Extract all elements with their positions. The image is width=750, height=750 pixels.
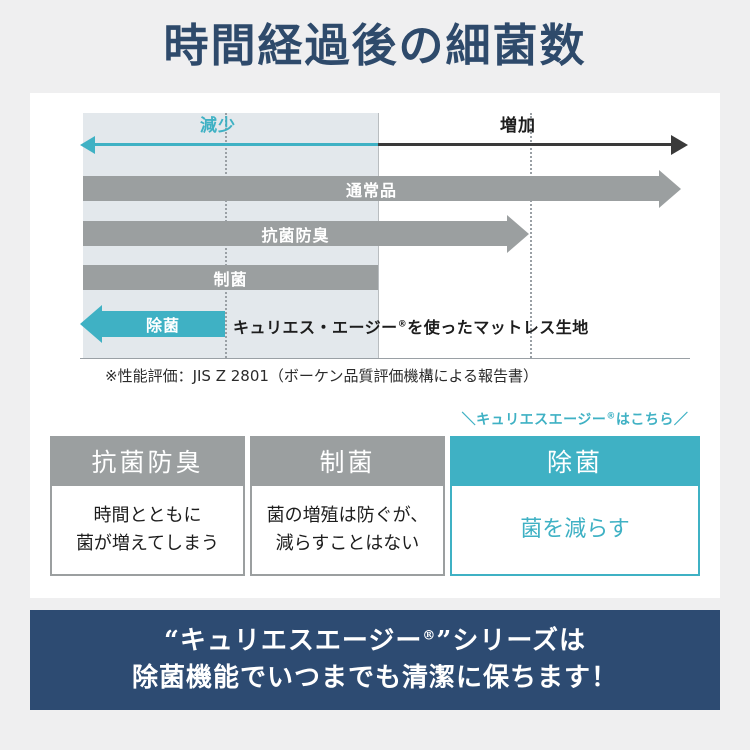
axis-label-increase: 増加 [500,111,536,136]
registered-mark: ® [606,411,616,421]
infographic-page: 時間経過後の細菌数 減少 増加 通常品 [0,0,750,750]
bar-body: 抗菌防臭 [83,221,508,246]
right-arrow-icon [671,135,688,155]
registered-mark: ® [422,628,436,643]
chart-panel: 減少 増加 通常品 抗菌防臭 制菌 [30,93,720,598]
banner-suffix: ”シリーズは [436,626,586,656]
axis-label-decrease: 減少 [200,111,236,136]
teal-arrowhead-icon [80,305,102,343]
card-body: 時間とともに 菌が増えてしまう [50,486,245,576]
teal-bar-body: 除菌 [101,311,225,337]
bar-label: 制菌 [213,266,247,290]
annotation-suffix: を使ったマットレス生地 [407,318,589,337]
page-title: 時間経過後の細菌数 [0,18,750,74]
mattress-fabric-annotation: キュリエス・エージー®を使ったマットレス生地 [233,314,589,338]
annotation-prefix: ＼ [462,412,477,428]
bar-label: 抗菌防臭 [261,222,329,246]
bottom-banner: “キュリエスエージー®”シリーズは 除菌機能でいつまでも清潔に保ちます！ [30,610,720,710]
comparison-cards: ＼キュリエスエージー®はこちら／ 抗菌防臭 時間とともに 菌が増えてしまう 制菌… [30,436,720,581]
horizontal-axis [30,143,720,147]
bar-arrowhead-icon [507,215,529,253]
card-body-line1: 時間とともに [76,502,219,530]
bar-label: 通常品 [346,177,397,201]
card-antibacterial-deodorant: 抗菌防臭 時間とともに 菌が増えてしまう [50,436,245,576]
card-body: 菌の増殖は防ぐが、 減らすことはない [250,486,445,576]
card-heading: 除菌 [450,436,700,486]
annotation-suffix: はこちら／ [616,412,689,428]
registered-mark: ® [398,320,408,330]
curies-age-pointer-annotation: ＼キュリエスエージー®はこちら／ [450,409,700,429]
bar-label: 除菌 [146,312,180,336]
bar-body: 通常品 [83,176,660,201]
card-body-line2: 菌が増えてしまう [76,530,219,558]
bacteria-chart: 減少 増加 通常品 抗菌防臭 制菌 [30,93,720,393]
axis-right-segment [378,143,675,146]
bar-sterilization-row: 除菌 キュリエス・エージー®を使ったマットレス生地 [30,305,720,343]
bar-bacteriostatic: 制菌 [83,265,378,290]
bar-normal-product: 通常品 [83,176,681,201]
banner-line-2: 除菌機能でいつまでも清潔に保ちます！ [132,660,618,697]
card-heading: 抗菌防臭 [50,436,245,486]
bar-arrowhead-icon [659,170,681,208]
card-sterilization: 除菌 菌を減らす [450,436,700,576]
axis-left-segment [92,143,378,146]
annotation-brand: キュリエスエージー [476,412,606,428]
chart-footnote: ※性能評価：JIS Z 2801（ボーケン品質評価機構による報告書） [105,365,538,386]
card-body-line1: 菌の増殖は防ぐが、 [267,502,429,530]
card-body: 菌を減らす [450,486,700,576]
banner-line-1: “キュリエスエージー®”シリーズは [164,623,586,660]
card-body-line2: 減らすことはない [267,530,429,558]
card-heading: 制菌 [250,436,445,486]
annotation-brand: キュリエス・エージー [233,318,398,337]
bar-antibacterial-deodorant: 抗菌防臭 [83,221,529,246]
banner-prefix: “キュリエスエージー [164,626,422,656]
bar-body: 制菌 [83,265,378,290]
chart-baseline [80,358,690,359]
card-bacteriostatic: 制菌 菌の増殖は防ぐが、 減らすことはない [250,436,445,576]
card-body-line1: 菌を減らす [520,513,630,547]
